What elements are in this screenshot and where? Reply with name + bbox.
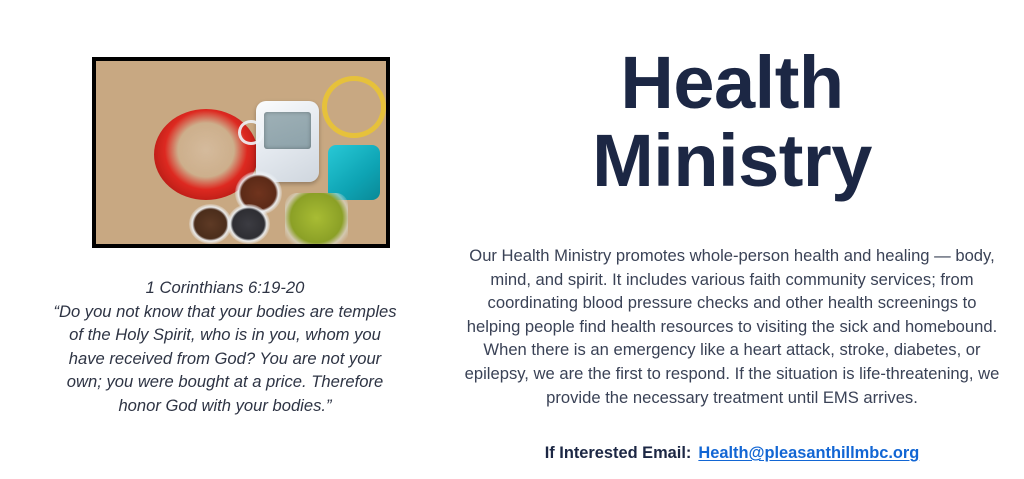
healthy-food-photo <box>96 61 386 244</box>
stethoscope-icon <box>238 120 264 146</box>
right-column: Health Ministry Our Health Ministry prom… <box>440 0 1024 479</box>
contact-line: If Interested Email:Health@pleasanthillm… <box>464 444 1000 463</box>
measuring-tape-icon <box>322 76 386 138</box>
bp-monitor-screen <box>264 112 310 149</box>
scripture-quote: “Do you not know that your bodies are te… <box>50 300 400 418</box>
page-title-line-2: Ministry <box>440 122 1024 200</box>
heart-bowl-3-icon <box>227 204 271 244</box>
contact-label: If Interested Email: <box>545 444 692 462</box>
left-column: 1 Corinthians 6:19-20 “Do you not know t… <box>0 0 440 479</box>
health-photo-frame <box>92 57 390 248</box>
page-title: Health Ministry <box>440 44 1024 200</box>
scripture-caption: 1 Corinthians 6:19-20 “Do you not know t… <box>50 276 400 417</box>
mung-bean-jar-icon <box>285 193 349 248</box>
health-ministry-slide: 1 Corinthians 6:19-20 “Do you not know t… <box>0 0 1024 479</box>
scripture-reference: 1 Corinthians 6:19-20 <box>50 276 400 300</box>
ministry-description: Our Health Ministry promotes whole-perso… <box>464 244 1000 409</box>
contact-email-link[interactable]: Health@pleasanthillmbc.org <box>698 444 919 462</box>
dumbbell-icon <box>328 145 380 200</box>
page-title-line-1: Health <box>620 41 843 124</box>
heart-bowl-2-icon <box>189 204 233 244</box>
